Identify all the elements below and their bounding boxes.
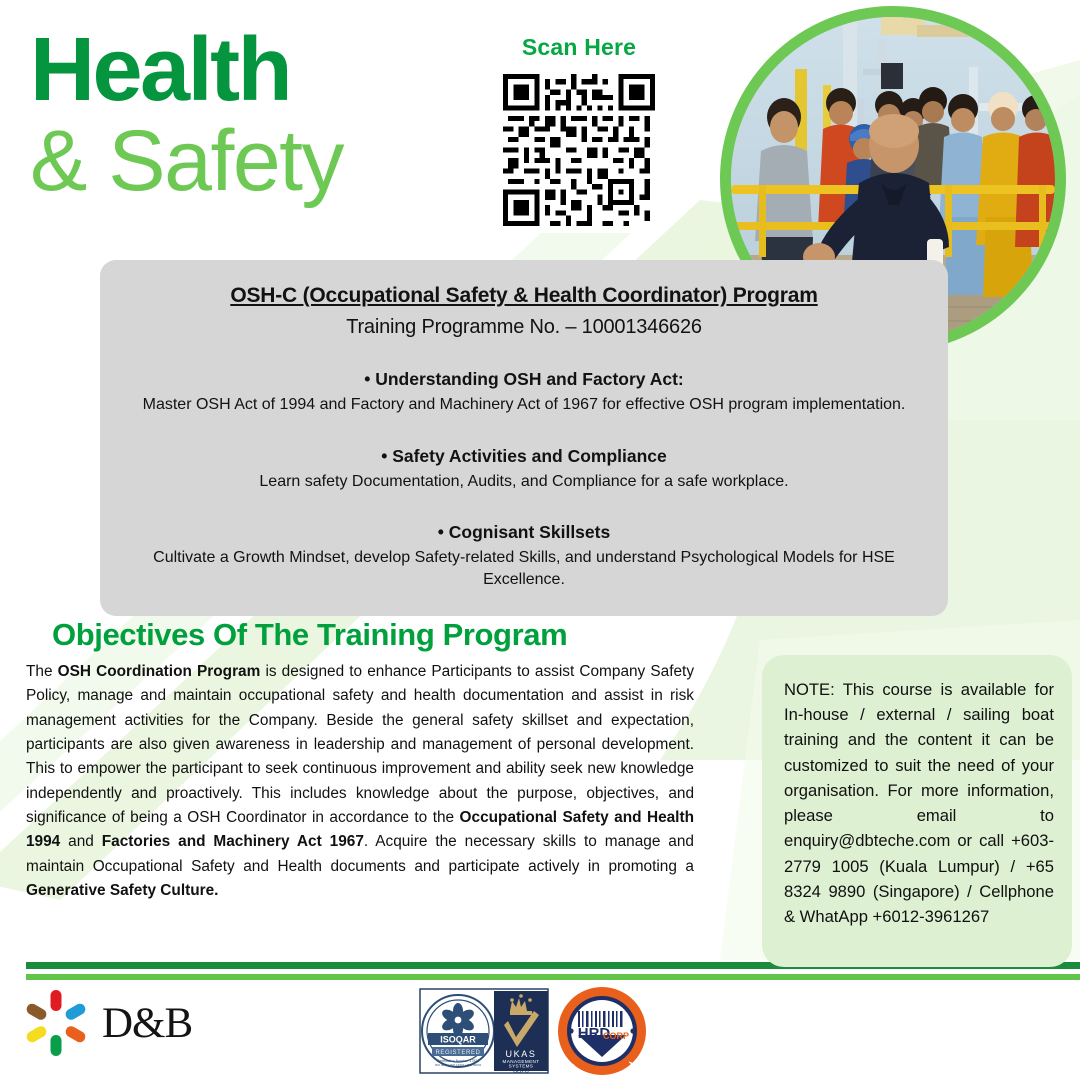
objectives-emphasis: OSH Coordination Program	[58, 663, 261, 680]
qr-code-svg	[503, 74, 655, 226]
page-title: Health & Safety	[30, 26, 343, 206]
title-line-safety: & Safety	[30, 116, 343, 206]
isoqar-label: ISOQAR	[440, 1035, 476, 1045]
footer: D&B ISOQAR REGISTERED Ce	[0, 985, 1080, 1080]
objectives-heading: Objectives Of The Training Program	[52, 617, 567, 653]
dnb-starburst-logo: D&B	[18, 985, 192, 1061]
objectives-text: The	[26, 663, 58, 680]
isoqar-ukas-badge: ISOQAR REGISTERED Certification Number: …	[418, 987, 550, 1075]
program-bullet-item: • Understanding OSH and Factory Act:Mast…	[126, 369, 922, 416]
program-details-card: OSH-C (Occupational Safety & Health Coor…	[100, 260, 948, 616]
divider-light-green	[26, 974, 1080, 980]
objectives-text: is designed to enhance Participants to a…	[26, 663, 694, 826]
objectives-emphasis: Factories and Machinery Act 1967	[102, 833, 364, 850]
program-bullet-item: • Cognisant SkillsetsCultivate a Growth …	[126, 522, 922, 590]
program-bullet-heading: • Safety Activities and Compliance	[126, 446, 922, 467]
note-box: NOTE: This course is available for In-ho…	[762, 655, 1072, 967]
program-bullet-body: Master OSH Act of 1994 and Factory and M…	[126, 394, 922, 416]
program-number: Training Programme No. – 10001346626	[126, 316, 922, 339]
hrd-center-sub: CORP	[603, 1031, 629, 1041]
certification-badges: ISOQAR REGISTERED Certification Number: …	[418, 985, 648, 1077]
qr-code-icon[interactable]	[496, 67, 662, 233]
dnb-wordmark: D&B	[102, 999, 192, 1048]
title-line-health: Health	[30, 26, 343, 114]
objectives-paragraph: The OSH Coordination Program is designed…	[26, 660, 694, 903]
objectives-emphasis: Generative Safety Culture.	[26, 882, 218, 899]
program-title: OSH-C (Occupational Safety & Health Coor…	[126, 284, 922, 308]
program-bullet-item: • Safety Activities and ComplianceLearn …	[126, 446, 922, 493]
program-bullet-body: Learn safety Documentation, Audits, and …	[126, 471, 922, 493]
hrd-corp-registered-training-provider-badge: REGISTERED TRAINING PROVIDER HRD CORP	[556, 985, 648, 1077]
isoqar-cert-line2: ISO 9001 / ISO 14001 / ISO 45001	[435, 1063, 482, 1067]
program-bullet-body: Cultivate a Growth Mindset, develop Safe…	[126, 547, 922, 590]
program-bullet-heading: • Understanding OSH and Factory Act:	[126, 369, 922, 390]
ukas-label: UKAS	[506, 1049, 537, 1059]
program-bullet-list: • Understanding OSH and Factory Act:Mast…	[126, 369, 922, 590]
program-bullet-heading: • Cognisant Skillsets	[126, 522, 922, 543]
starburst-icon	[18, 985, 94, 1061]
qr-block[interactable]: Scan Here	[496, 34, 662, 233]
scan-here-label: Scan Here	[496, 34, 662, 61]
objectives-text: and	[60, 833, 102, 850]
isoqar-registered-label: REGISTERED	[435, 1050, 480, 1056]
ukas-number: 0026	[513, 1068, 529, 1075]
